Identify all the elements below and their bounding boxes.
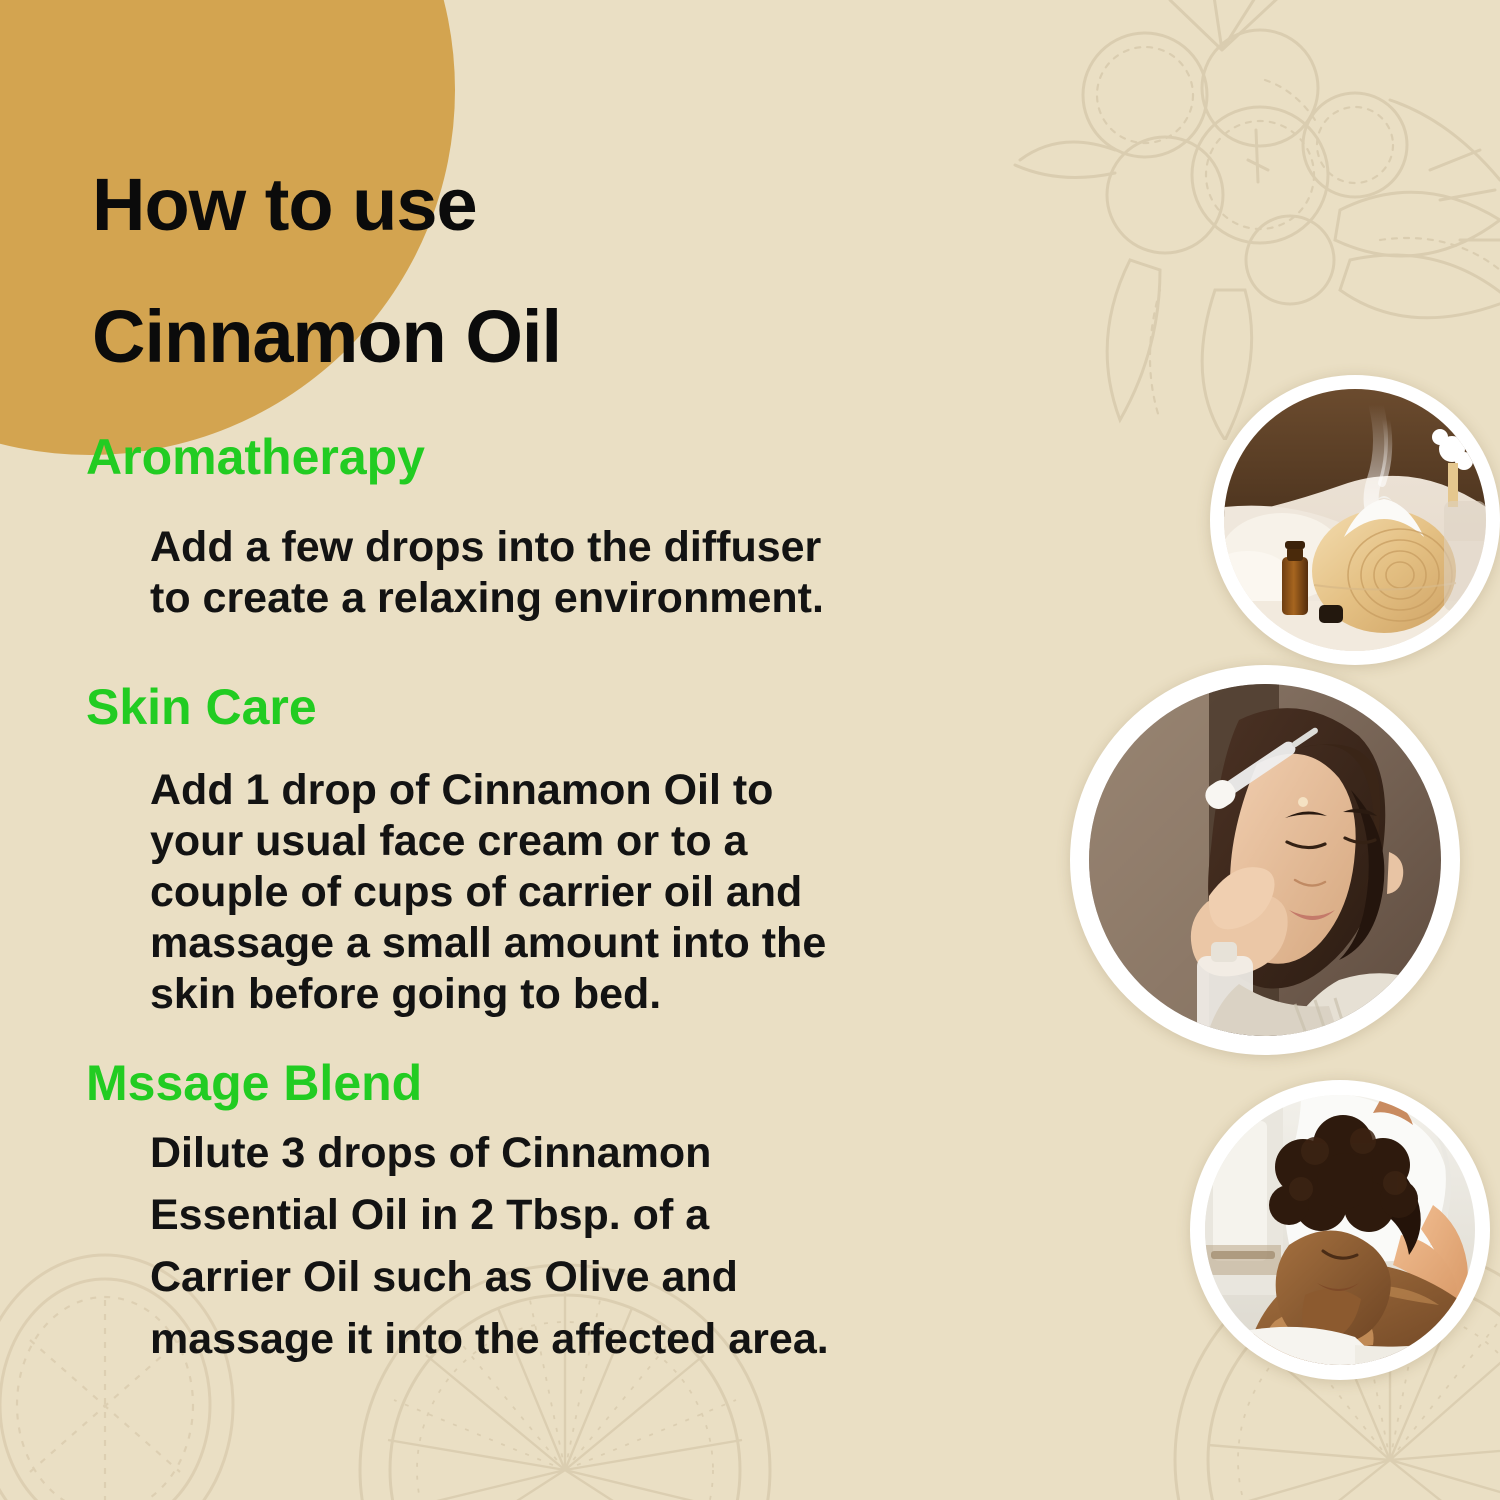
massage-photo (1205, 1095, 1475, 1365)
photo-circle-skincare (1070, 665, 1460, 1055)
body-line: to create a relaxing environment. (150, 573, 950, 624)
body-line: Add 1 drop of Cinnamon Oil to (150, 765, 950, 816)
body-line: Essential Oil in 2 Tbsp. of a (150, 1184, 950, 1246)
page-title-line-1: How to use (92, 168, 477, 242)
body-line: massage it into the affected area. (150, 1308, 950, 1370)
body-line: skin before going to bed. (150, 969, 950, 1020)
text-column: How to use Cinnamon Oil Aromatherapy Add… (0, 0, 1000, 1500)
page-title-line-2: Cinnamon Oil (92, 300, 561, 374)
diffuser-photo (1224, 389, 1486, 651)
body-line: Carrier Oil such as Olive and (150, 1246, 950, 1308)
skincare-photo (1089, 684, 1441, 1036)
body-line: couple of cups of carrier oil and (150, 867, 950, 918)
body-line: massage a small amount into the (150, 918, 950, 969)
botanical-berries-watermark (960, 0, 1500, 440)
body-line: Add a few drops into the diffuser (150, 522, 950, 573)
body-line: your usual face cream or to a (150, 816, 950, 867)
photo-circle-massage (1190, 1080, 1490, 1380)
section-heading-aromatherapy: Aromatherapy (86, 432, 425, 482)
body-line: Dilute 3 drops of Cinnamon (150, 1122, 950, 1184)
how-to-use-cinnamon-oil-infographic: How to use Cinnamon Oil Aromatherapy Add… (0, 0, 1500, 1500)
photo-circle-diffuser (1210, 375, 1500, 665)
section-body-aromatherapy: Add a few drops into the diffuser to cre… (150, 522, 950, 624)
section-heading-skin-care: Skin Care (86, 682, 317, 732)
section-body-massage-blend: Dilute 3 drops of Cinnamon Essential Oil… (150, 1122, 950, 1370)
section-body-skin-care: Add 1 drop of Cinnamon Oil to your usual… (150, 765, 950, 1020)
section-heading-massage-blend: Mssage Blend (86, 1058, 422, 1108)
